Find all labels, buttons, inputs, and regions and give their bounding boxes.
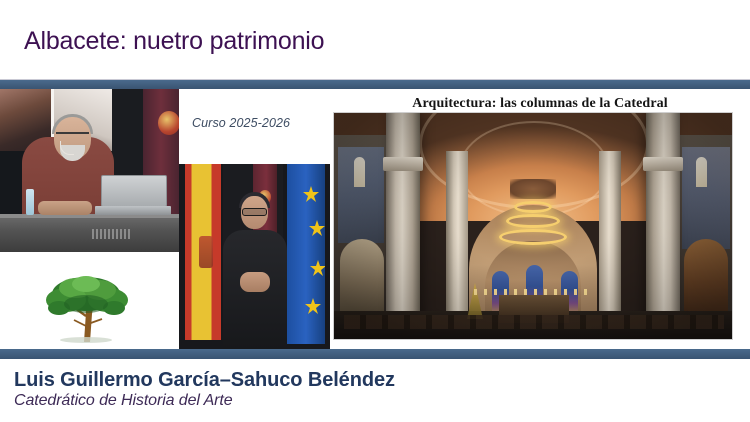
- presenter-name: Luis Guillermo García–Sahuco Beléndez: [14, 369, 395, 392]
- interpreter-hands: [240, 272, 270, 292]
- hall-crest-icon: [158, 111, 179, 135]
- speaker-glasses-icon: [56, 132, 89, 138]
- eu-flag: [287, 164, 325, 344]
- page-title: Albacete: nuetro patrimonio: [24, 27, 324, 56]
- laptop-base: [95, 206, 171, 215]
- slide-content-panel: Arquitectura: las columnas de la Catedra…: [330, 89, 750, 349]
- spain-flag: [185, 164, 221, 340]
- interpreter-glasses-icon: [242, 208, 267, 216]
- slide-footer: Luis Guillermo García–Sahuco Beléndez Ca…: [0, 359, 750, 422]
- spain-flag-crest-icon: [199, 236, 213, 268]
- speaker-hands: [38, 201, 92, 215]
- speaker-video[interactable]: [0, 89, 179, 252]
- presenter-title: Catedrático de Historia del Arte: [14, 392, 233, 410]
- content-band: Curso 2025-2026: [0, 89, 750, 349]
- tree-logo-panel: [0, 252, 179, 349]
- laptop-lid: [101, 175, 167, 207]
- cathedral-interior-photo[interactable]: [333, 112, 733, 340]
- desk-logo: [92, 229, 132, 239]
- photo-vignette: [334, 113, 733, 340]
- laptop: [95, 175, 171, 217]
- water-bottle: [26, 189, 34, 215]
- presentation-slide: Albacete: nuetro patrimonio: [0, 0, 750, 422]
- curso-label: Curso 2025-2026: [192, 116, 290, 130]
- tree-icon: [26, 264, 146, 344]
- sign-language-interpreter-video[interactable]: [179, 164, 330, 349]
- lecture-desk: [0, 214, 179, 252]
- band-bottom-bar: [0, 349, 750, 359]
- slide-heading: Arquitectura: las columnas de la Catedra…: [330, 96, 750, 112]
- band-top-bar: [0, 80, 750, 89]
- curso-panel: Curso 2025-2026: [179, 89, 330, 164]
- slide-header: Albacete: nuetro patrimonio: [0, 0, 750, 80]
